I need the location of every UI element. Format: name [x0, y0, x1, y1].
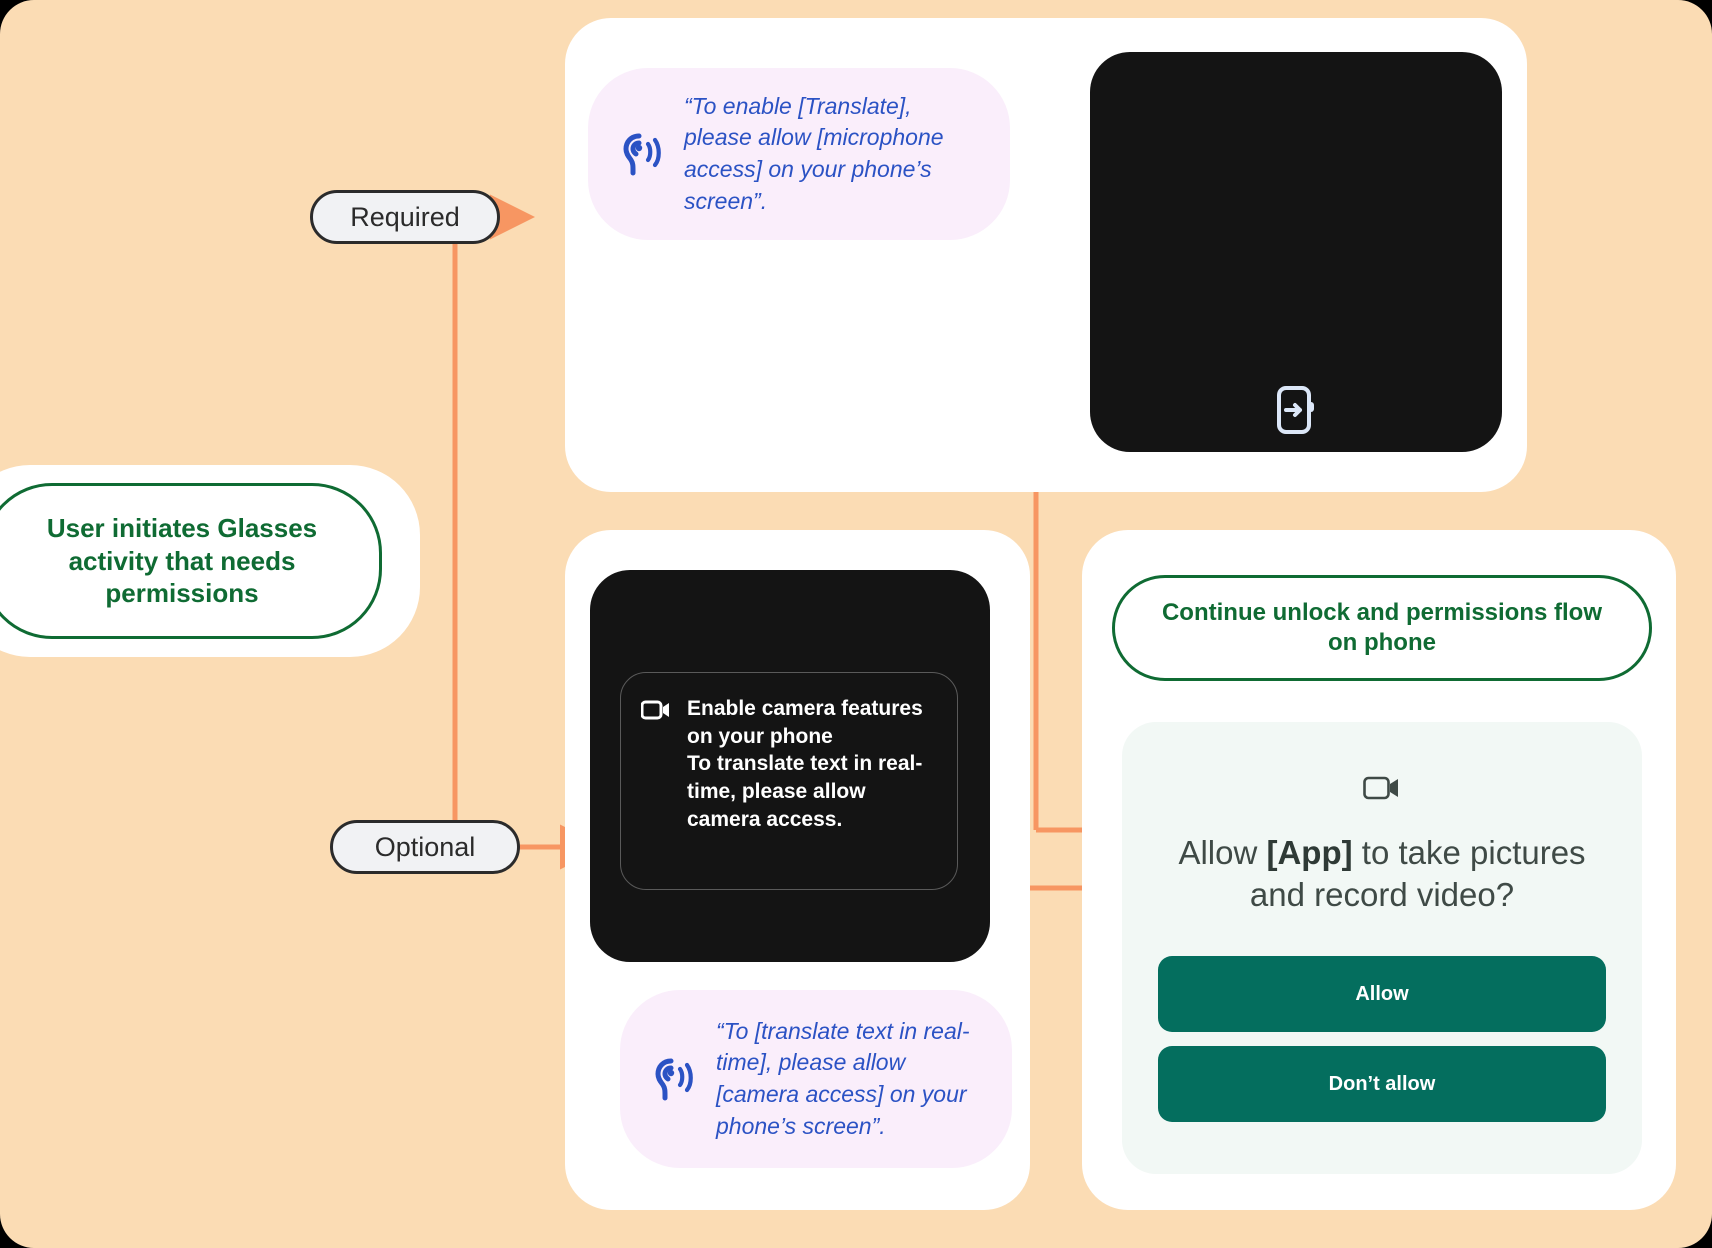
dont-allow-button[interactable]: Don’t allow [1158, 1046, 1606, 1122]
video-camera-icon [641, 699, 671, 721]
diagram-canvas: User initiates Glasses activity that nee… [0, 0, 1712, 1248]
glasses-notification-heading: Enable camera features on your phone [687, 695, 937, 750]
speech-bubble-text: “To enable [Translate], please allow [mi… [684, 91, 976, 218]
glasses-display-camera: Enable camera features on your phone To … [590, 570, 990, 962]
ear-listen-icon [622, 132, 662, 176]
glasses-notification-text: Enable camera features on your phone To … [687, 695, 937, 867]
start-node-halo: User initiates Glasses activity that nee… [0, 465, 420, 657]
speech-bubble-camera: “To [translate text in real-time], pleas… [620, 990, 1012, 1168]
start-node[interactable]: User initiates Glasses activity that nee… [0, 483, 382, 639]
screenshot-root: User initiates Glasses activity that nee… [0, 0, 1712, 1248]
allow-button[interactable]: Allow [1158, 956, 1606, 1032]
permission-app-name: [App] [1266, 834, 1352, 871]
phone-unlock-icon [1273, 384, 1319, 436]
speech-bubble-microphone: “To enable [Translate], please allow [mi… [588, 68, 1010, 240]
ear-listen-icon [654, 1057, 694, 1101]
glasses-notification-card: Enable camera features on your phone To … [620, 672, 958, 890]
branch-optional[interactable]: Optional [330, 820, 520, 874]
permission-question-prefix: Allow [1178, 834, 1266, 871]
continue-node[interactable]: Continue unlock and permissions flow on … [1112, 575, 1652, 681]
phone-permission-dialog: Allow [App] to take pictures and record … [1122, 722, 1642, 1174]
glasses-display-unlock [1090, 52, 1502, 452]
glasses-notification-body: To translate text in real-time, please a… [687, 750, 937, 833]
speech-bubble-text: “To [translate text in real-time], pleas… [716, 1016, 978, 1143]
permission-question: Allow [App] to take pictures and record … [1162, 832, 1602, 916]
video-camera-icon [1363, 774, 1401, 802]
branch-required[interactable]: Required [310, 190, 500, 244]
